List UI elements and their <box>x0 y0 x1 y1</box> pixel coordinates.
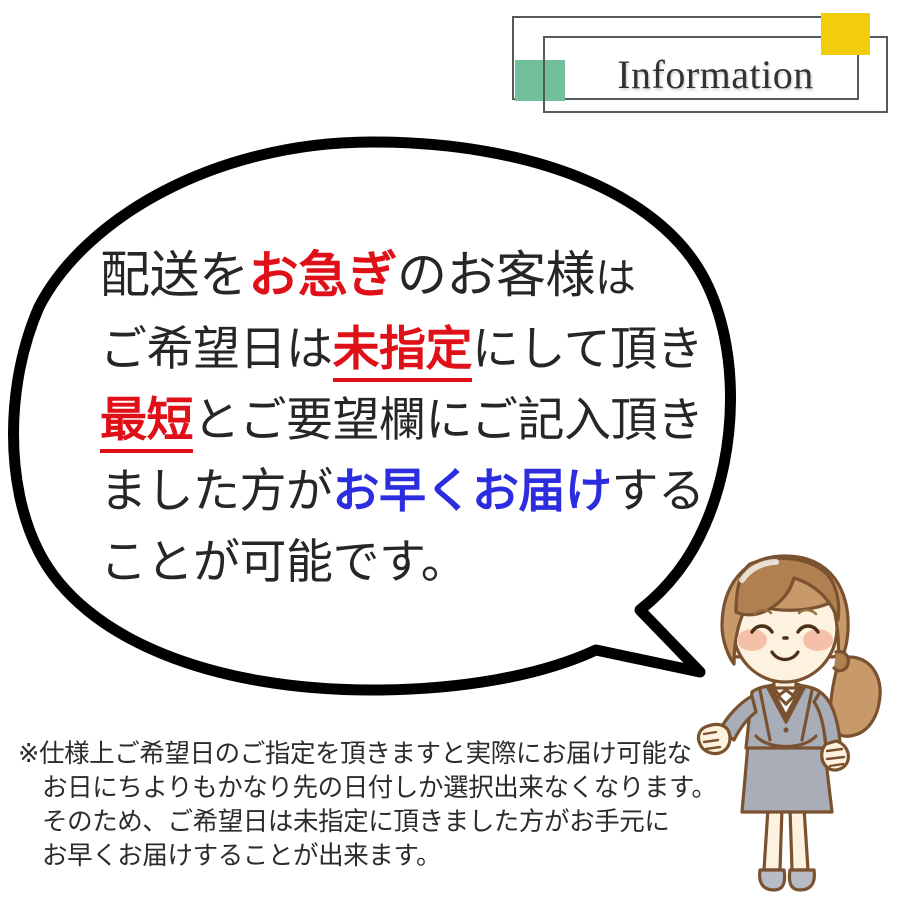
right-leg <box>790 808 808 870</box>
right-shoe <box>789 870 814 890</box>
footnote-line-1: ※仕様上ご希望日のご指定を頂きますと実際にお届け可能な <box>18 737 758 771</box>
bubble-line-5: ことが可能です。 <box>100 527 720 598</box>
page-title: Information <box>543 36 888 113</box>
left-hand <box>698 724 730 753</box>
line4-seg-plain-b: する <box>612 464 705 519</box>
bubble-text-block: 配送をお急ぎのお客様は ご希望日は未指定にして頂き 最短とご要望欄にご記入頂き … <box>100 240 720 598</box>
footnote-line-2: お日にちよりもかなり先の日付しか選択出来なくなります。 <box>18 771 758 805</box>
line1-seg-red: お急ぎ <box>249 246 398 304</box>
line1-seg-plain-c: は <box>595 254 636 302</box>
line3-seg-plain-a: とご要望欄にご記入頂き <box>193 393 704 448</box>
skirt <box>742 744 832 812</box>
footnote-line-3: そのため、ご希望日は未指定に頂きました方がお手元に <box>18 805 758 839</box>
line1-seg-plain-b: のお客様 <box>397 246 595 304</box>
footnote-block: ※仕様上ご希望日のご指定を頂きますと実際にお届け可能な お日にちよりもかなり先の… <box>18 737 758 873</box>
businesswoman-illustration <box>690 540 900 900</box>
bubble-line-2: ご希望日は未指定にして頂き <box>100 314 720 385</box>
footnote-line-4: お早くお届けすることが出来ます。 <box>18 839 758 873</box>
woman-figure-icon <box>690 540 900 900</box>
poster-root: Information 配送をお急ぎのお客様は ご希望日は未指定にして頂き 最短… <box>0 0 900 900</box>
header-banner: Information <box>505 0 900 125</box>
left-shoe <box>760 870 785 890</box>
line3-seg-red-underline: 最短 <box>100 393 193 453</box>
left-leg <box>764 808 782 870</box>
jacket-button-2 <box>783 727 788 732</box>
line4-seg-plain-a: ました方が <box>100 464 333 519</box>
bubble-line-4: ました方がお早くお届けする <box>100 456 720 527</box>
line4-seg-blue: お早くお届け <box>333 464 612 519</box>
speech-bubble: 配送をお急ぎのお客様は ご希望日は未指定にして頂き 最短とご要望欄にご記入頂き … <box>0 120 770 710</box>
line5-seg-plain-a: ことが可能です。 <box>100 535 467 590</box>
line2-seg-red-underline: 未指定 <box>333 322 473 382</box>
line1-seg-plain-a: 配送を <box>100 246 249 304</box>
line2-seg-plain-a: ご希望日は <box>100 322 333 377</box>
jacket-button-1 <box>783 715 788 720</box>
bubble-line-3: 最短とご要望欄にご記入頂き <box>100 385 720 456</box>
bubble-line-1: 配送をお急ぎのお客様は <box>100 240 720 314</box>
line2-seg-plain-b: にして頂き <box>472 322 703 377</box>
hair-tie <box>834 652 848 671</box>
